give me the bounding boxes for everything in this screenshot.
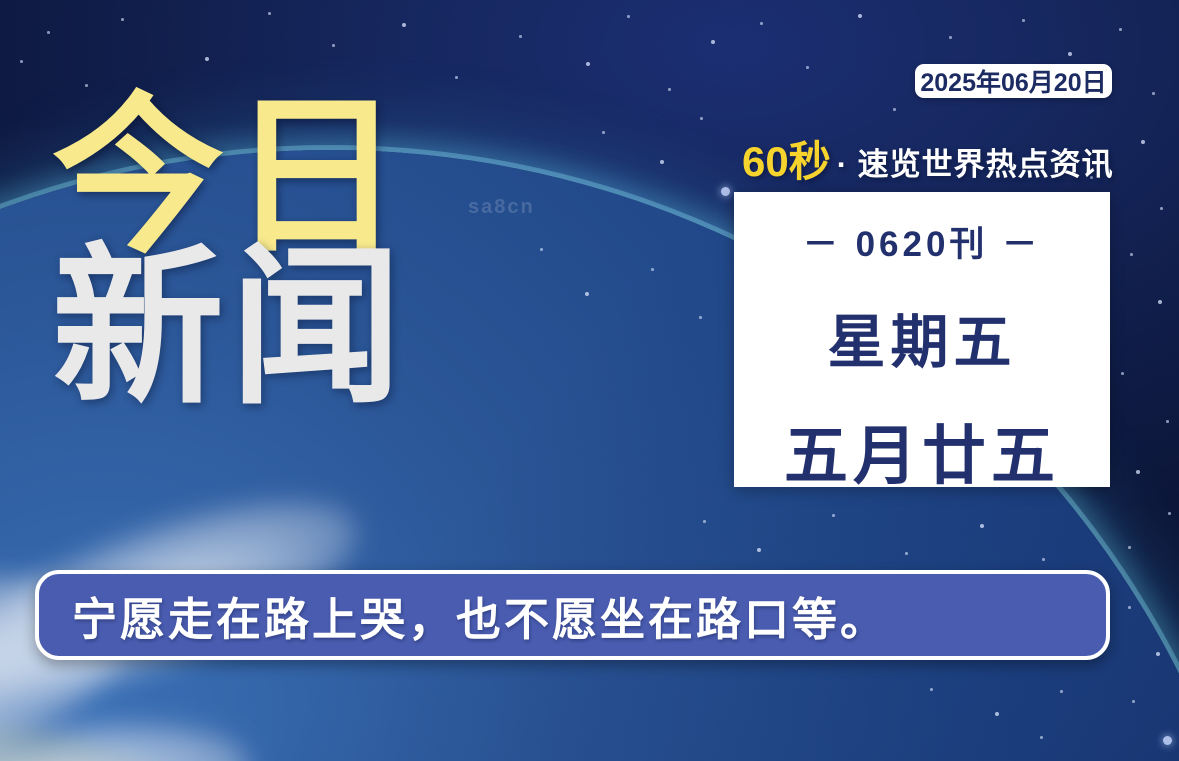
news-poster: 今日 新闻 sa8cn 2025年06月20日 60秒 · 速览世界热点资讯 －… xyxy=(0,0,1179,761)
quote-banner: 宁愿走在路上哭，也不愿坐在路口等。 xyxy=(35,570,1110,660)
watermark-text: sa8cn xyxy=(468,196,535,219)
strapline: 60秒 · 速览世界热点资讯 xyxy=(742,141,1114,183)
strapline-rest: · 速览世界热点资讯 xyxy=(837,149,1114,183)
title-line-news: 新闻 xyxy=(52,247,408,410)
lunar-date: 五月廿五 xyxy=(784,405,1060,497)
info-card: － 0620刊 － 星期五 五月廿五 xyxy=(734,192,1110,487)
quote-text: 宁愿走在路上哭，也不愿坐在路口等。 xyxy=(72,583,888,648)
date-badge: 2025年06月20日 xyxy=(915,64,1112,98)
strapline-seconds: 60秒 xyxy=(742,141,831,183)
date-badge-label: 2025年06月20日 xyxy=(920,63,1106,99)
weekday-label: 星期五 xyxy=(827,295,1016,379)
issue-number: － 0620刊 － xyxy=(803,216,1041,267)
page-title: 今日 新闻 xyxy=(52,96,408,411)
